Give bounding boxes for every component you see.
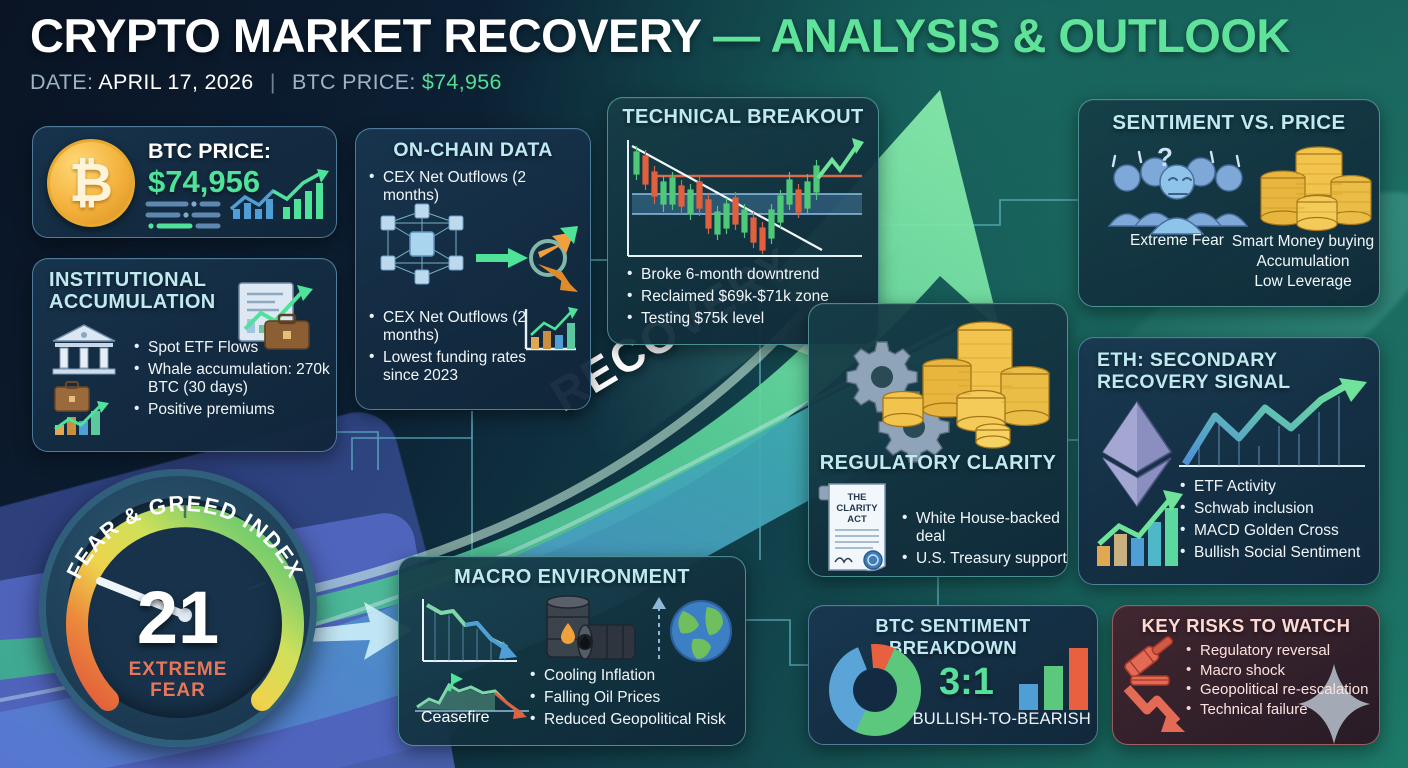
regulatory-bullets: White House-backed deal U.S. Treasury su… [901, 510, 1076, 572]
coin-stacks-icon [1245, 140, 1373, 236]
list-item: Whale accumulation: 270k BTC (30 days) [133, 361, 333, 397]
gears-coins-icon [833, 312, 1061, 452]
list-item: CEX Net Outflows (2 months) [368, 309, 533, 345]
list-item: Regulatory reversal [1185, 642, 1385, 660]
btc-price-value: $74,956 [422, 70, 502, 94]
sentiment-right-line-1: Smart Money buying [1229, 232, 1377, 252]
sentiment-right-line-2: Accumulation [1229, 252, 1377, 272]
flow-arrows-icon [474, 224, 582, 294]
bar-chart-up-icon [1095, 484, 1183, 570]
list-item: Spot ETF Flows [133, 339, 333, 357]
svg-text:FEAR & GREED INDEX: FEAR & GREED INDEX [62, 491, 309, 583]
sentiment-right-caption: Smart Money buying Accumulation Low Leve… [1229, 232, 1377, 291]
sentiment-right-line-3: Low Leverage [1229, 272, 1377, 292]
btc-price-card[interactable]: BTC PRICE: $74,956 [32, 126, 337, 238]
clarity-act-document-icon: THE CLARITY ACT [817, 482, 899, 574]
page-title-white: CRYPTO MARKET RECOVERY [30, 9, 701, 62]
key-risks-card[interactable]: KEY RISKS TO WATCH Regulatory reversal M… [1112, 605, 1380, 745]
gauge-status-line-2: FEAR [46, 680, 310, 701]
regulatory-clarity-card[interactable]: REGULATORY CLARITY THE CLARITY ACT White… [808, 303, 1068, 577]
gavel-icon [1125, 640, 1187, 688]
globe-icon [649, 591, 735, 667]
clarity-act-line-2: CLARITY [836, 503, 878, 514]
list-item: Bullish Social Sentiment [1179, 544, 1384, 562]
page-title-green: ANALYSIS & OUTLOOK [770, 9, 1289, 62]
list-item: Positive premiums [133, 401, 333, 419]
sentiment-ratio-label: BULLISH-TO-BEARISH [809, 710, 1091, 729]
oil-barrels-icon [537, 591, 647, 669]
page-header: CRYPTO MARKET RECOVERY — ANALYSIS & OUTL… [30, 12, 1380, 95]
gauge-status-line-1: EXTREME [46, 659, 310, 680]
gauge-status: EXTREME FEAR [46, 659, 310, 702]
infographic-canvas: RECOVERY CRYPTO MARKET RECOVERY — ANALYS… [0, 0, 1408, 768]
page-title: CRYPTO MARKET RECOVERY — ANALYSIS & OUTL… [30, 12, 1380, 61]
gauge-ring-label-text: FEAR & GREED INDEX [62, 491, 309, 583]
subtitle-separator: | [270, 70, 276, 94]
list-item: Schwab inclusion [1179, 500, 1384, 518]
risks-bullets: Regulatory reversal Macro shock Geopolit… [1185, 642, 1385, 720]
briefcase-bar-chart-icon [51, 379, 121, 441]
list-item: White House-backed deal [901, 510, 1076, 546]
macro-title: MACRO ENVIRONMENT [399, 566, 745, 589]
technical-title: TECHNICAL BREAKOUT [608, 106, 878, 129]
institutional-accumulation-card[interactable]: INSTITUTIONAL ACCUMULATION [32, 258, 337, 452]
macro-environment-card[interactable]: MACRO ENVIRONMENT [398, 556, 746, 746]
gauge-value: 21 [46, 581, 310, 655]
rising-line-chart-icon [1179, 378, 1369, 478]
list-item: Macro shock [1185, 662, 1385, 680]
bar-chart-up-icon [524, 307, 580, 355]
bar-chart-icon [1017, 644, 1091, 712]
list-item: Geopolitical re-escalation [1185, 681, 1385, 699]
declining-line-chart-icon [421, 597, 521, 667]
worried-crowd-icon: ? [1099, 146, 1269, 238]
candlestick-chart-icon [626, 138, 864, 262]
btc-sentiment-breakdown-card[interactable]: BTC SENTIMENT BREAKDOWN 3:1 BULLISH-TO-B… [808, 605, 1098, 745]
sentiment-title: SENTIMENT VS. PRICE [1079, 111, 1379, 135]
macro-bullets: Cooling Inflation Falling Oil Prices Red… [529, 667, 754, 733]
list-item: U.S. Treasury support [901, 550, 1076, 568]
btc-price-card-label: BTC PRICE: [148, 139, 271, 164]
list-item: Technical failure [1185, 701, 1385, 719]
institutional-bullets: Spot ETF Flows Whale accumulation: 270k … [133, 339, 333, 424]
list-item: Broke 6-month downtrend [626, 266, 876, 284]
rising-line-chart-icon [229, 169, 329, 231]
list-item: Cooling Inflation [529, 667, 754, 685]
fear-greed-gauge[interactable]: FEAR & GREED INDEX 21 EXTREME FEAR [39, 469, 317, 747]
clarity-act-line-3: ACT [847, 514, 867, 525]
data-lines-icon [148, 199, 223, 231]
date-value: APRIL 17, 2026 [98, 70, 253, 94]
blockchain-network-icon [370, 201, 474, 291]
ceasefire-label: Ceasefire [421, 709, 489, 727]
date-label: DATE: [30, 70, 93, 94]
list-item: ETF Activity [1179, 478, 1384, 496]
onchain-bullets-bottom: CEX Net Outflows (2 months) Lowest fundi… [368, 309, 533, 390]
onchain-title: ON-CHAIN DATA [356, 139, 590, 162]
sentiment-vs-price-card[interactable]: SENTIMENT VS. PRICE ? VS. [1078, 99, 1380, 307]
page-subtitle: DATE: APRIL 17, 2026 | BTC PRICE: $74,95… [30, 70, 1380, 95]
bank-icon [51, 323, 117, 375]
bitcoin-coin-icon [47, 139, 135, 227]
page-title-dash: — [713, 9, 760, 62]
list-item: Lowest funding rates since 2023 [368, 349, 533, 385]
list-item: MACD Golden Cross [1179, 522, 1384, 540]
list-item: CEX Net Outflows (2 months) [368, 169, 568, 205]
list-item: Reduced Geopolitical Risk [529, 711, 754, 729]
risks-title: KEY RISKS TO WATCH [1113, 615, 1379, 637]
regulatory-title: REGULATORY CLARITY [809, 452, 1067, 475]
btc-price-label: BTC PRICE: [292, 70, 416, 94]
list-item: Falling Oil Prices [529, 689, 754, 707]
clarity-act-line-1: THE [848, 492, 867, 503]
eth-recovery-signal-card[interactable]: ETH: SECONDARY RECOVERY SIGNAL [1078, 337, 1380, 585]
sentiment-ratio-value: 3:1 [939, 661, 994, 704]
eth-bullets: ETF Activity Schwab inclusion MACD Golde… [1179, 478, 1384, 567]
svg-text:?: ? [1157, 142, 1173, 172]
on-chain-data-card[interactable]: ON-CHAIN DATA CEX Net Outflows (2 months… [355, 128, 591, 410]
